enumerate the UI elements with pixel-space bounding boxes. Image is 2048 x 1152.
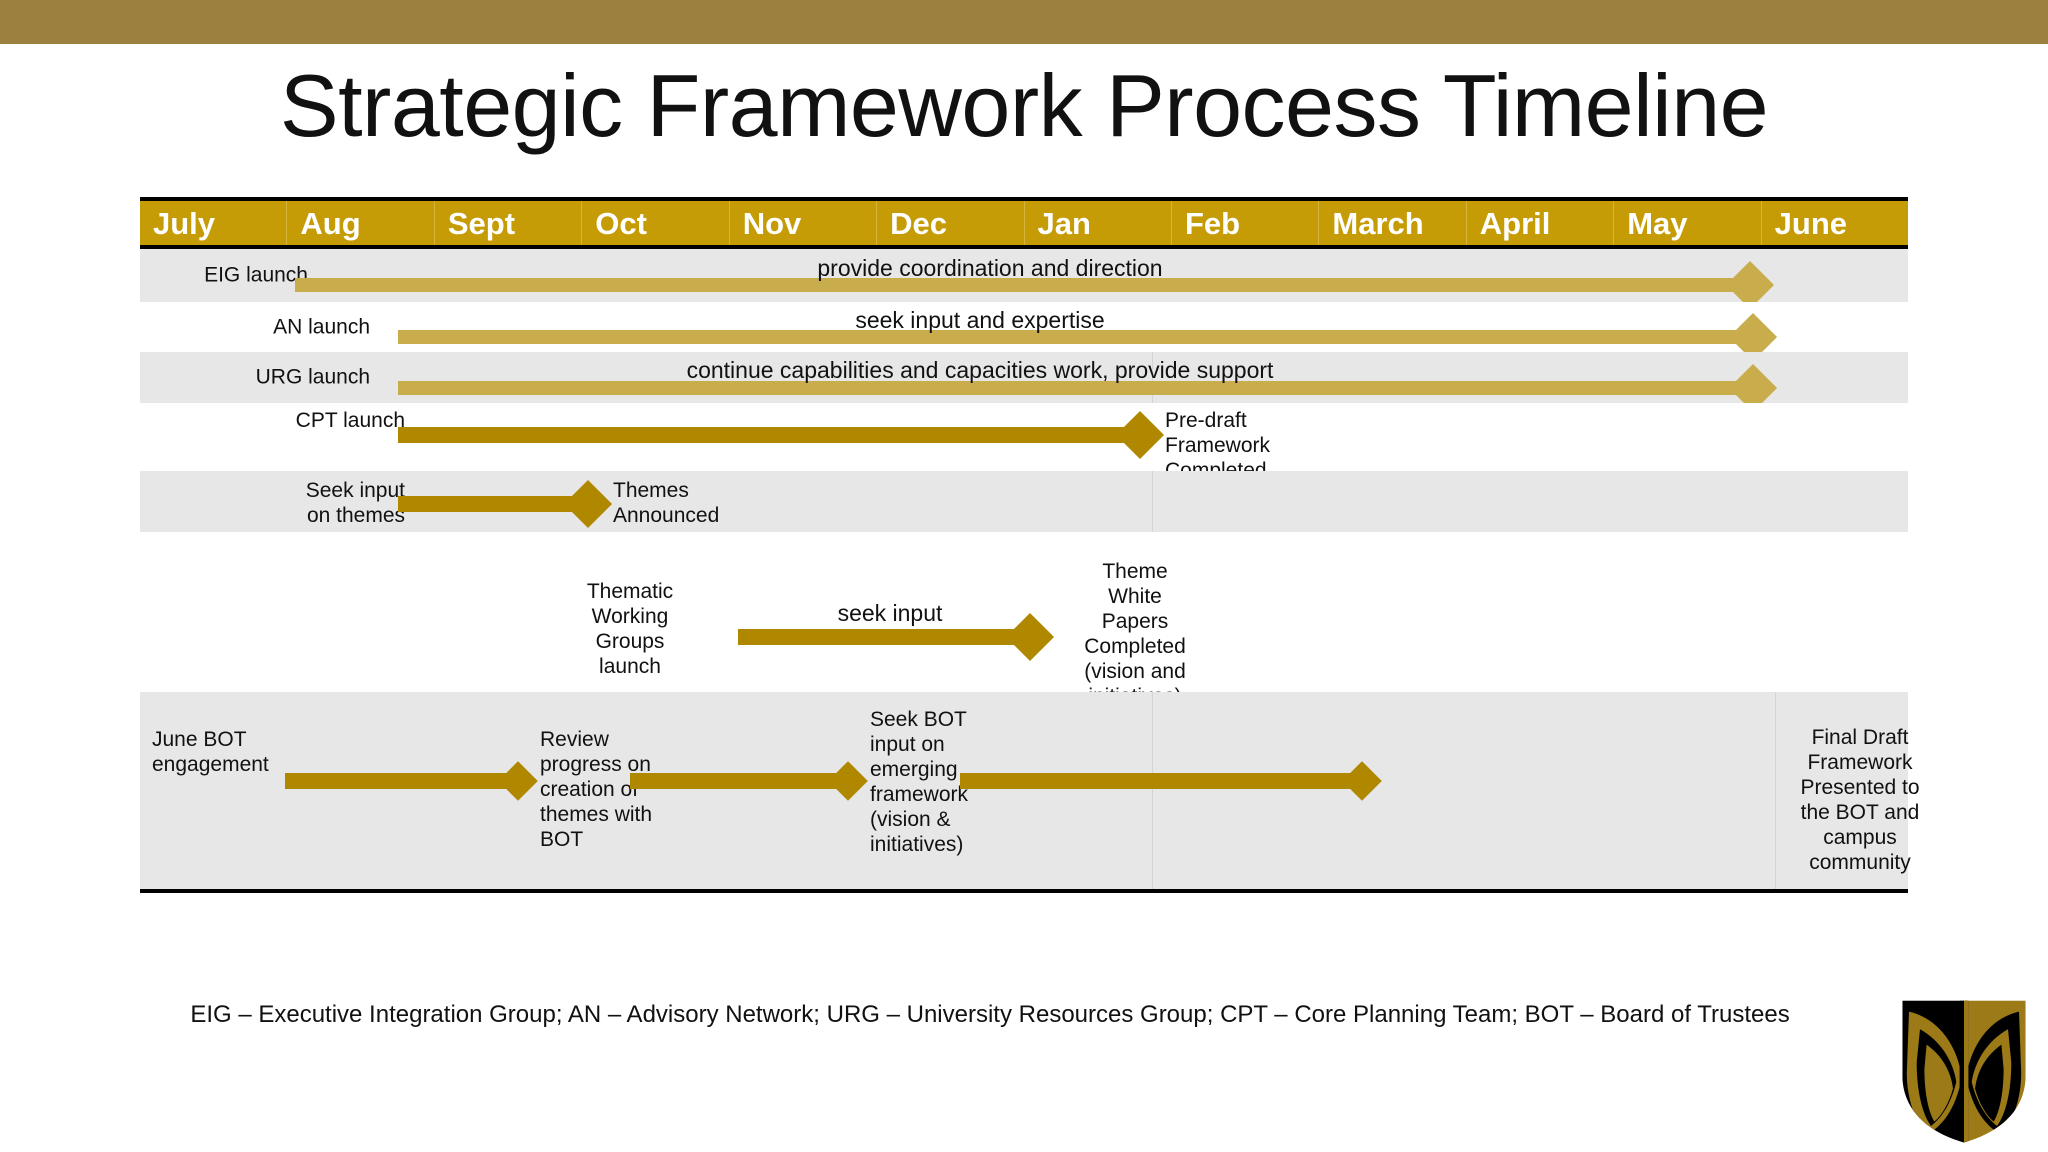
guide-line	[1152, 692, 1153, 889]
page-title: Strategic Framework Process Timeline	[0, 60, 2048, 152]
bot-milestone-label-4: Final Draft Framework Presented to the B…	[1780, 725, 1940, 875]
timeline-row-urg[interactable]: URG launch continue capabilities and cap…	[140, 352, 1908, 403]
row-endlabel-themes: Themes Announced	[613, 478, 833, 528]
month-cell-march[interactable]: March	[1319, 201, 1466, 245]
row-label-seek-input-themes: Seek input on themes	[130, 478, 405, 528]
guide-line	[1775, 692, 1776, 889]
timeline-row-an[interactable]: AN launch seek input and expertise	[140, 302, 1908, 352]
top-accent-bar	[0, 0, 2048, 44]
bot-milestone-label-1: June BOT engagement	[152, 727, 342, 777]
month-cell-april[interactable]: April	[1467, 201, 1614, 245]
timeline-row-eig[interactable]: EIG launch provide coordination and dire…	[140, 249, 1908, 302]
diamond-bot-3[interactable]	[1342, 761, 1382, 801]
diamond-bot-1[interactable]	[498, 761, 538, 801]
bar-twg[interactable]	[738, 629, 1028, 645]
timeline-chart: July Aug Sept Oct Nov Dec Jan Feb March …	[140, 197, 1908, 893]
bar-themes[interactable]	[398, 496, 583, 512]
month-header-row: July Aug Sept Oct Nov Dec Jan Feb March …	[140, 197, 1908, 249]
month-cell-oct[interactable]: Oct	[582, 201, 729, 245]
row-endlabel-twg: Theme White Papers Completed (vision and…	[1055, 559, 1215, 709]
timeline-row-bot[interactable]: June BOT engagement Review progress on c…	[140, 692, 1908, 889]
bar-bot-3[interactable]	[960, 773, 1360, 789]
month-cell-nov[interactable]: Nov	[730, 201, 877, 245]
month-cell-feb[interactable]: Feb	[1172, 201, 1319, 245]
bar-urg[interactable]	[398, 381, 1750, 395]
diamond-bot-2[interactable]	[828, 761, 868, 801]
legend-abbreviations: EIG – Executive Integration Group; AN – …	[140, 1000, 1840, 1030]
bar-bot-2[interactable]	[630, 773, 845, 789]
month-cell-may[interactable]: May	[1614, 201, 1761, 245]
month-cell-july[interactable]: July	[140, 201, 287, 245]
month-cell-june[interactable]: June	[1762, 201, 1908, 245]
row-label-twg-launch: Thematic Working Groups launch	[545, 579, 715, 679]
bar-bot-1[interactable]	[285, 773, 515, 789]
bot-milestone-label-2: Review progress on creation of themes wi…	[540, 727, 710, 852]
row-label-eig-launch: EIG launch	[108, 263, 308, 288]
guide-line	[1152, 471, 1153, 532]
row-label-an-launch: AN launch	[130, 315, 370, 340]
bar-caption-an: seek input and expertise	[580, 307, 1380, 333]
month-cell-jan[interactable]: Jan	[1025, 201, 1172, 245]
bar-caption-twg: seek input	[760, 600, 1020, 626]
slide-canvas: Strategic Framework Process Timeline Jul…	[0, 0, 2048, 1152]
timeline-row-cpt[interactable]: CPT launch Pre-draft Framework Completed	[140, 403, 1908, 471]
diamond-cpt-end[interactable]	[1116, 411, 1164, 459]
bar-caption-eig: provide coordination and direction	[540, 255, 1440, 281]
timeline-row-twg[interactable]: Thematic Working Groups launch seek inpu…	[140, 532, 1908, 692]
university-shield-logo	[1898, 996, 2030, 1146]
timeline-row-themes[interactable]: Seek input on themes Themes Announced	[140, 471, 1908, 532]
bar-caption-urg: continue capabilities and capacities wor…	[430, 357, 1530, 383]
month-cell-dec[interactable]: Dec	[877, 201, 1024, 245]
month-cell-aug[interactable]: Aug	[287, 201, 434, 245]
row-label-cpt-launch: CPT launch	[130, 408, 405, 433]
row-label-urg-launch: URG launch	[130, 365, 370, 390]
bar-cpt[interactable]	[398, 427, 1138, 443]
timeline-rows: EIG launch provide coordination and dire…	[140, 249, 1908, 893]
month-cell-sept[interactable]: Sept	[435, 201, 582, 245]
diamond-themes-announced[interactable]	[564, 480, 612, 528]
